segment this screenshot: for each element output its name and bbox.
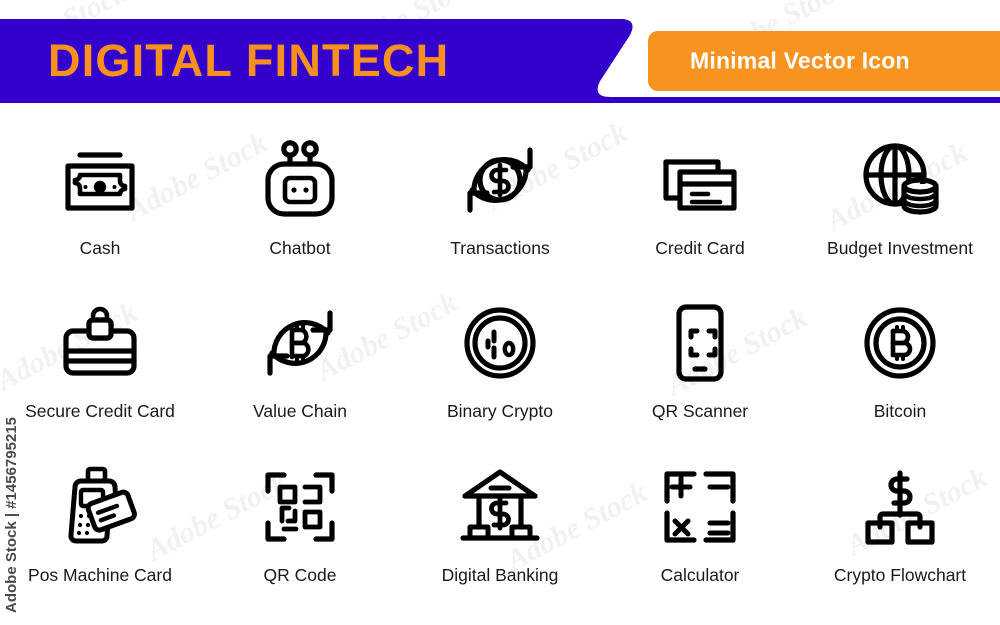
card-padlock-icon [52,295,148,391]
icon-label: Credit Card [655,238,744,259]
icon-label: Budget Investment [827,238,973,259]
dollar-flowchart-icon [852,459,948,555]
icon-cell-value-chain[interactable]: Value Chain [200,281,400,444]
poster-title: DIGITAL FINTECH [48,35,449,87]
icon-cell-bitcoin[interactable]: Bitcoin [800,281,1000,444]
icon-set-poster: Adobe Stock Adobe Stock Adobe Stock Adob… [0,0,1000,625]
icon-label: QR Scanner [652,401,748,422]
icon-cell-cash[interactable]: Cash [0,118,200,281]
icon-cell-qr-code[interactable]: QR Code [200,445,400,608]
bank-building-dollar-icon [452,459,548,555]
icon-label: QR Code [264,565,337,586]
icon-label: Transactions [450,238,550,259]
header-banner: DIGITAL FINTECH Minimal Vector Icon [0,19,1000,103]
refresh-bitcoin-icon [252,295,348,391]
icon-cell-qr-scanner[interactable]: QR Scanner [600,281,800,444]
icon-label: Binary Crypto [447,401,553,422]
icon-cell-transactions[interactable]: Transactions [400,118,600,281]
coin-binary-icon [452,295,548,391]
calculator-operators-icon [652,459,748,555]
icon-cell-calculator[interactable]: Calculator [600,445,800,608]
cash-banknote-icon [52,132,148,228]
icon-cell-pos-machine-card[interactable]: Pos Machine Card [0,445,200,608]
pos-terminal-card-icon [52,459,148,555]
icon-label: Digital Banking [442,565,559,586]
icon-cell-budget-investment[interactable]: Budget Investment [800,118,1000,281]
icon-cell-crypto-flowchart[interactable]: Crypto Flowchart [800,445,1000,608]
icon-label: Secure Credit Card [25,401,175,422]
icon-cell-binary-crypto[interactable]: Binary Crypto [400,281,600,444]
globe-coins-icon [852,132,948,228]
icon-cell-chatbot[interactable]: Chatbot [200,118,400,281]
icon-label: Crypto Flowchart [834,565,966,586]
icon-cell-credit-card[interactable]: Credit Card [600,118,800,281]
header-badge-label: Minimal Vector Icon [690,48,910,75]
icon-grid: Cash Chatbot [0,118,1000,608]
header-badge: Minimal Vector Icon [648,31,1000,91]
credit-card-stack-icon [652,132,748,228]
icon-label: Cash [80,238,121,259]
icon-label: Bitcoin [874,401,927,422]
icon-label: Chatbot [269,238,330,259]
icon-cell-secure-credit-card[interactable]: Secure Credit Card [0,281,200,444]
icon-label: Pos Machine Card [28,565,172,586]
phone-qr-scan-icon [652,295,748,391]
chatbot-robot-icon [252,132,348,228]
icon-label: Value Chain [253,401,347,422]
icon-cell-digital-banking[interactable]: Digital Banking [400,445,600,608]
transactions-refresh-dollar-icon [452,132,548,228]
bitcoin-coin-icon [852,295,948,391]
qr-code-icon [252,459,348,555]
icon-label: Calculator [661,565,740,586]
